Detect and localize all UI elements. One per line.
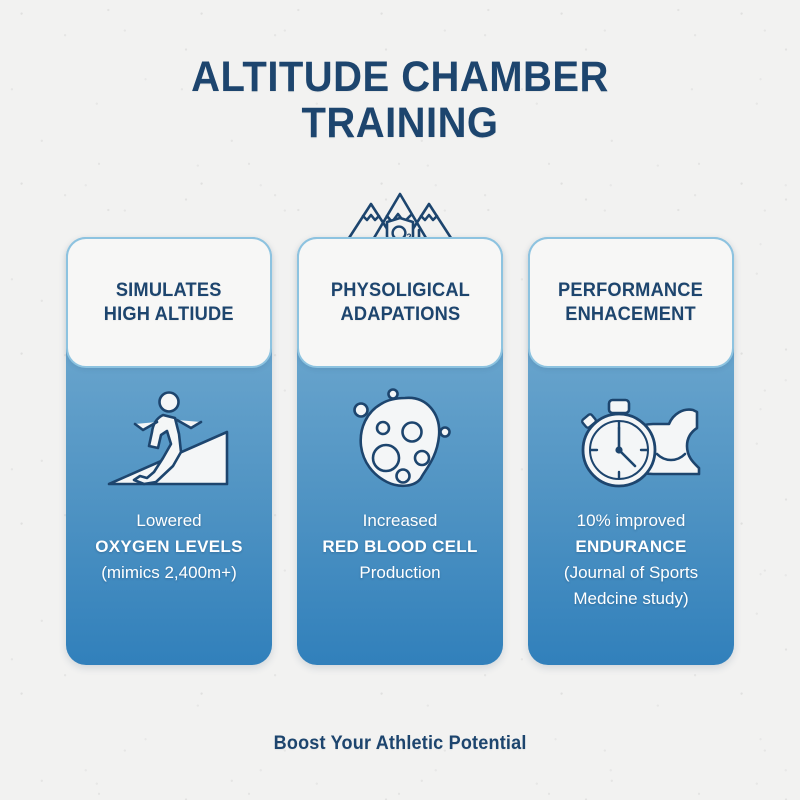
card-3-body-line-1: 10% improved <box>564 508 698 534</box>
card-3-body-line-4: Medcine study) <box>564 586 698 612</box>
card-performance-enhancement[interactable]: PERFORMANCE ENHACEMENT <box>528 237 734 665</box>
card-2-header-text: PHYSOLIGICAL ADAPATIONS <box>323 279 477 327</box>
card-physiological-adaptations[interactable]: PHYSOLIGICAL ADAPATIONS <box>297 237 503 665</box>
page-title: ALTITUDE CHAMBER TRAINING <box>0 54 800 146</box>
card-3-body-line-2: ENDURANCE <box>564 534 698 560</box>
card-2-body-line-3: Production <box>322 560 477 586</box>
card-2-body: Increased RED BLOOD CELL Production <box>312 508 487 586</box>
stopwatch-bicep-icon <box>561 380 701 500</box>
feature-cards-row: SIMULATES HIGH ALTIUDE <box>66 237 734 665</box>
blood-cell-icon <box>335 380 465 500</box>
card-1-body-line-1: Lowered <box>95 508 243 534</box>
card-3-body-line-3: (Journal of Sports <box>564 560 698 586</box>
card-1-body-line-2: OXYGEN LEVELS <box>95 534 243 560</box>
card-3-body: 10% improved ENDURANCE (Journal of Sport… <box>554 508 708 612</box>
card-1-body: Lowered OXYGEN LEVELS (mimics 2,400m+) <box>85 508 253 586</box>
card-1-header-text: SIMULATES HIGH ALTIUDE <box>96 279 241 327</box>
infographic-canvas: ALTITUDE CHAMBER TRAINING 2 <box>0 0 800 800</box>
card-2-header-line-1: PHYSOLIGICAL <box>330 280 469 301</box>
card-3-header-line-2: ENHACEMENT <box>566 304 697 325</box>
card-1-header-line-1: SIMULATES <box>116 280 222 301</box>
page-title-line-2: TRAINING <box>28 100 772 146</box>
card-simulates-high-altitude[interactable]: SIMULATES HIGH ALTIUDE <box>66 237 272 665</box>
card-3-header: PERFORMANCE ENHACEMENT <box>528 237 734 368</box>
runner-uphill-icon <box>99 380 239 500</box>
card-2-header-line-2: ADAPATIONS <box>340 304 460 325</box>
card-2-body-line-2: RED BLOOD CELL <box>322 534 477 560</box>
page-title-line-1: ALTITUDE CHAMBER <box>28 54 772 100</box>
footer-tagline-text: Boost Your Athletic Potential <box>274 733 527 755</box>
card-3-header-line-1: PERFORMANCE <box>558 280 703 301</box>
card-2-header: PHYSOLIGICAL ADAPATIONS <box>297 237 503 368</box>
card-2-body-line-1: Increased <box>322 508 477 534</box>
card-1-body-line-3: (mimics 2,400m+) <box>95 560 243 586</box>
card-1-header: SIMULATES HIGH ALTIUDE <box>66 237 272 368</box>
card-1-header-line-2: HIGH ALTIUDE <box>104 304 234 325</box>
card-3-header-text: PERFORMANCE ENHACEMENT <box>551 279 711 327</box>
footer-tagline: Boost Your Athletic Potential <box>0 733 800 755</box>
